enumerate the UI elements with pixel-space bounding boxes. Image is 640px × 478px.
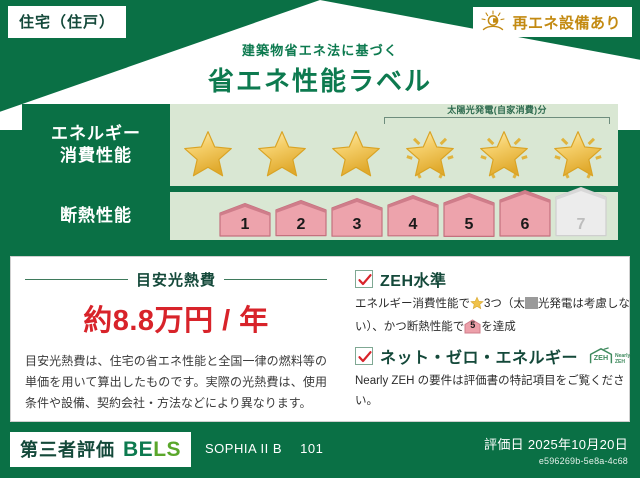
solar-bracket-annotation: 太陽光発電(自家消費)分 [384, 106, 610, 124]
performance-rows: エネルギー 消費性能 太陽光発電(自家消費)分 [22, 104, 618, 246]
zeh-standard-checkbox[interactable] [355, 270, 373, 288]
star-icon [470, 296, 484, 318]
energy-label-line1: エネルギー [51, 123, 141, 145]
inline-house-badge: 5 [464, 319, 481, 334]
redacted-block [525, 297, 538, 309]
bels-logo-part2: LS [153, 438, 181, 461]
insulation-levels-row: 1 2 3 4 5 6 [170, 192, 618, 240]
star-icon [172, 121, 244, 185]
evaluation-date: 評価日 2025年10月20日 [484, 434, 628, 453]
inline-house-level: 5 [464, 318, 481, 333]
insulation-performance-label: 断熱性能 [22, 192, 170, 240]
insulation-level-number: 2 [274, 216, 328, 234]
zeh-logo-sub: Nearly ZEH [615, 354, 636, 367]
insulation-level-number: 7 [554, 216, 608, 234]
svg-text:ZEH: ZEH [594, 353, 608, 362]
cost-heading: 目安光熱費 [25, 269, 327, 290]
zeh-standard-head: ZEH水準 [355, 267, 636, 291]
unit-number: 101 [300, 441, 323, 456]
insulation-performance-row: 断熱性能 1 2 3 4 [22, 192, 618, 240]
zeh-section: ZEH水準 エネルギー消費性能で3つ（太光発電は考慮しない）、かつ断熱性能で5を… [341, 257, 640, 421]
zeh-standard-item: ZEH水準 エネルギー消費性能で3つ（太光発電は考慮しない）、かつ断熱性能で5を… [355, 267, 636, 337]
cost-heading-label: 目安光熱費 [136, 269, 216, 290]
insulation-level-7: 7 [554, 186, 608, 237]
energy-performance-body: 太陽光発電(自家消費)分 [170, 104, 618, 186]
cost-rule-right [224, 279, 327, 280]
energy-label-line2: 消費性能 [60, 145, 132, 167]
insulation-level-number: 1 [218, 216, 272, 234]
insulation-label-text: 断熱性能 [60, 205, 132, 227]
energy-label-root: 住宅（住戸） 再エネ設備あり 建築物省エネ法に基づく 省エネ性能ラベル [0, 0, 640, 478]
zeh-desc-part2: 3つ（太 [484, 298, 525, 310]
net-zero-title: ネット・ゼロ・エネルギー [380, 344, 578, 368]
evaluation-date-label: 評価日 [484, 437, 524, 452]
star-icon-solar [468, 121, 540, 185]
zeh-standard-description: エネルギー消費性能で3つ（太光発電は考慮しない）、かつ断熱性能で5を達成 [355, 295, 636, 337]
building-name: SOPHIA II B [205, 441, 282, 456]
header-subtitle: 建築物省エネ法に基づく [0, 40, 640, 59]
bels-chip: 第三者評価 BELS [10, 432, 191, 467]
zeh-house-logo: ZEH Nearly ZEH [589, 345, 636, 367]
insulation-level-1: 1 [218, 202, 272, 237]
building-identifier: SOPHIA II B 101 [205, 441, 323, 456]
solar-bracket-label: 太陽光発電(自家消費)分 [384, 106, 610, 116]
net-zero-energy-item: ネット・ゼロ・エネルギー ZEH Nearly ZEH Nearly ZEH の… [355, 344, 636, 411]
net-zero-head: ネット・ゼロ・エネルギー ZEH Nearly ZEH [355, 344, 636, 368]
cost-rule-left [25, 279, 128, 280]
insulation-level-number: 3 [330, 216, 384, 234]
insulation-level-5: 5 [442, 192, 496, 237]
insulation-level-4: 4 [386, 194, 440, 237]
insulation-level-3: 3 [330, 197, 384, 237]
net-zero-description: Nearly ZEH の要件は評価書の特記項目をご覧ください。 [355, 372, 636, 411]
star-icon [320, 121, 392, 185]
insulation-level-number: 6 [498, 216, 552, 234]
bels-logo-part1: BE [123, 438, 153, 461]
insulation-level-2: 2 [274, 199, 328, 237]
zeh-standard-title: ZEH水準 [380, 267, 447, 291]
header-titles: 建築物省エネ法に基づく 省エネ性能ラベル [0, 40, 640, 98]
insulation-level-number: 5 [442, 216, 496, 234]
cost-value: 約8.8万円 / 年 [25, 297, 327, 339]
solar-bracket-line [384, 117, 610, 124]
sun-solar-icon [480, 10, 506, 34]
zeh-desc-part4: を達成 [481, 321, 516, 333]
star-icon-solar [542, 121, 614, 185]
star-icon [246, 121, 318, 185]
energy-performance-row: エネルギー 消費性能 太陽光発電(自家消費)分 [22, 104, 618, 186]
energy-stars-row [174, 121, 614, 185]
header-title: 省エネ性能ラベル [0, 61, 640, 98]
insulation-level-number: 4 [386, 216, 440, 234]
details-panel: 目安光熱費 約8.8万円 / 年 目安光熱費は、住宅の省エネ性能と全国一律の燃料… [10, 256, 630, 422]
star-icon-solar [394, 121, 466, 185]
insulation-level-6: 6 [498, 189, 552, 237]
energy-performance-label: エネルギー 消費性能 [22, 104, 170, 186]
evaluation-meta: 評価日 2025年10月20日 e596269b-5e8a-4c68 [484, 434, 628, 466]
renewable-equipment-badge: 再エネ設備あり [473, 7, 632, 37]
renewable-badge-label: 再エネ設備あり [512, 12, 621, 33]
footer-bar: 第三者評価 BELS SOPHIA II B 101 評価日 2025年10月2… [0, 426, 640, 478]
net-zero-checkbox[interactable] [355, 347, 373, 365]
evaluation-date-value: 2025年10月20日 [528, 437, 628, 452]
building-type-tag: 住宅（住戸） [8, 6, 126, 38]
third-party-evaluation-label: 第三者評価 [20, 436, 115, 462]
cost-section: 目安光熱費 約8.8万円 / 年 目安光熱費は、住宅の省エネ性能と全国一律の燃料… [11, 257, 341, 421]
evaluation-uid: e596269b-5e8a-4c68 [484, 456, 628, 466]
zeh-desc-part1: エネルギー消費性能で [355, 298, 470, 310]
cost-note: 目安光熱費は、住宅の省エネ性能と全国一律の燃料等の単価を用いて算出したものです。… [25, 351, 327, 414]
bels-logo: BELS [123, 438, 181, 462]
